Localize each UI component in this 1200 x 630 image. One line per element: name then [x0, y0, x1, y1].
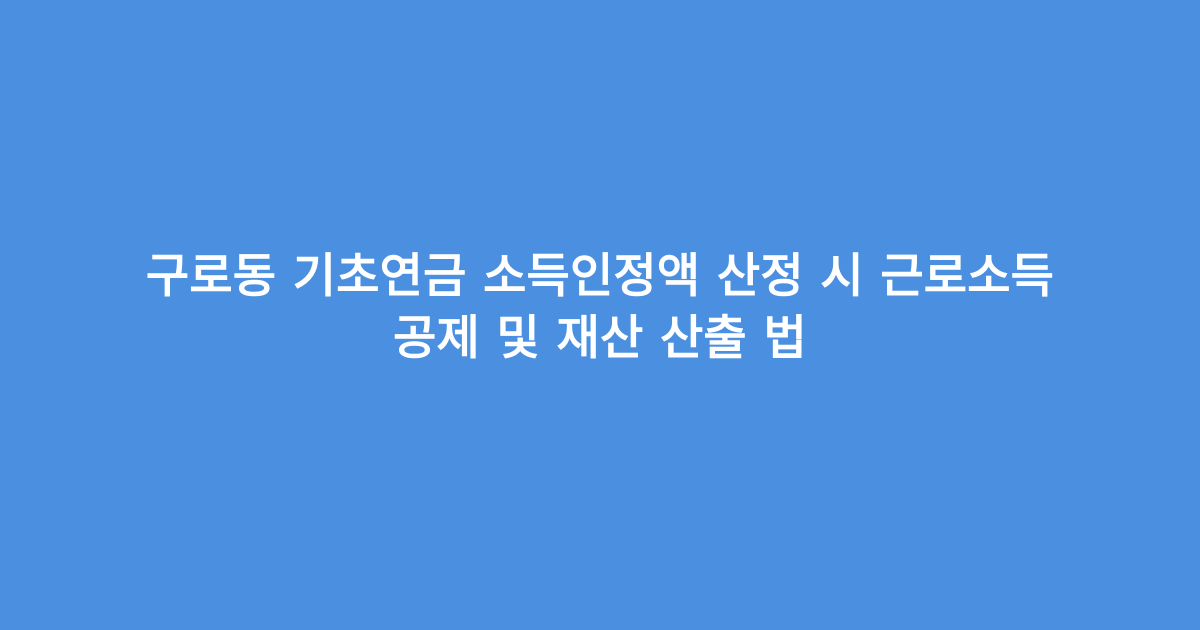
title-block: 구로동 기초연금 소득인정액 산정 시 근로소득 공제 및 재산 산출 법 — [80, 246, 1120, 370]
og-card: 구로동 기초연금 소득인정액 산정 시 근로소득 공제 및 재산 산출 법 — [0, 0, 1200, 630]
page-title: 구로동 기초연금 소득인정액 산정 시 근로소득 공제 및 재산 산출 법 — [80, 246, 1120, 370]
